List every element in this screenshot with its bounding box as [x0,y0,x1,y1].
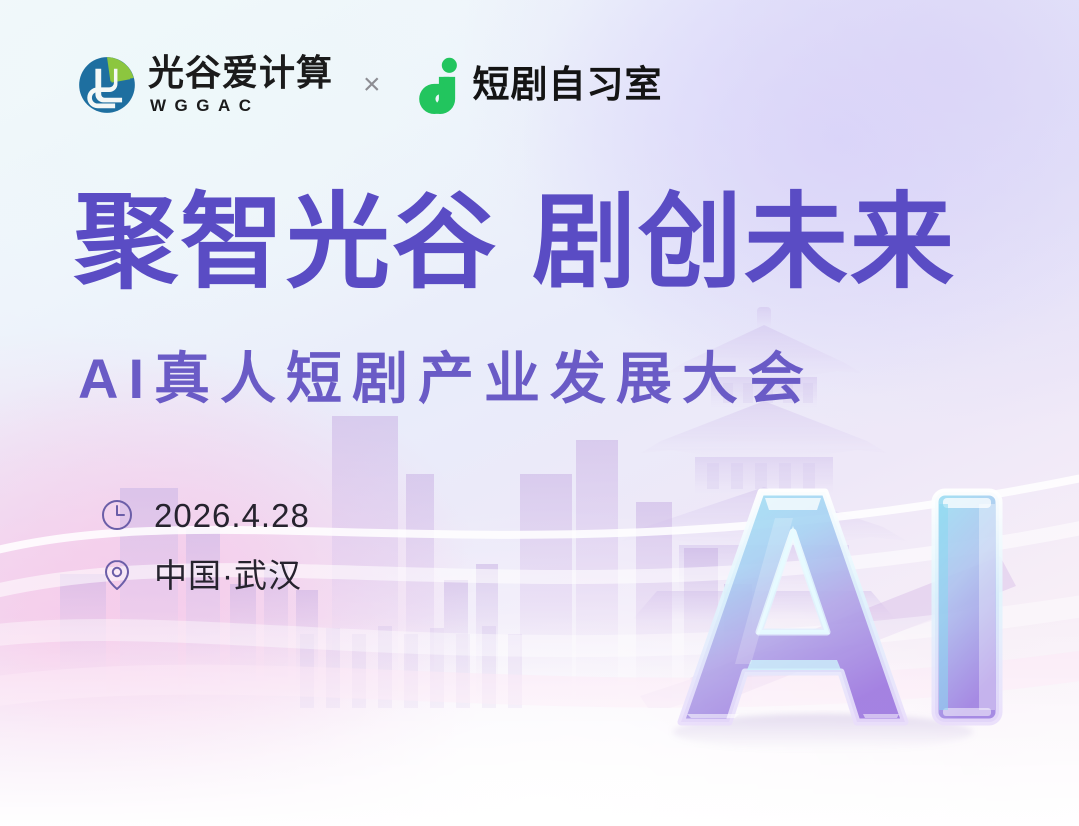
event-date-row: 2026.4.28 [100,498,310,532]
wggac-name-cn: 光谷爱计算 [148,55,333,91]
ai-3d-glass-graphic [643,464,1043,764]
event-location-row: 中国·武汉 [100,558,310,592]
wggac-name-en: WGGAC [148,97,333,114]
event-meta: 2026.4.28 中国·武汉 [100,498,310,592]
letter-a-glyph [681,492,905,722]
duanju-name-cn: 短剧自习室 [473,66,663,103]
wggac-aperture-logo-icon [78,56,136,114]
poster-subtitle: AI真人短剧产业发展大会 [78,348,814,410]
headline-part-1: 聚智光谷 [74,185,498,301]
event-poster: 光谷爱计算 WGGAC × 短剧自习室 聚智光谷剧创未来 AI真人短剧产业发展大… [0,0,1079,826]
event-date: 2026.4.28 [154,499,310,532]
location-pin-icon [100,558,134,592]
brand-wggac: 光谷爱计算 WGGAC [78,55,333,114]
letter-i-glyph [935,492,999,722]
brand-duanju: 短剧自习室 [411,56,663,114]
partner-logo-row: 光谷爱计算 WGGAC × 短剧自习室 [78,55,663,114]
event-location: 中国·武汉 [154,559,302,592]
headline-part-2: 剧创未来 [532,185,956,301]
clock-icon [100,498,134,532]
duanju-d-logo-icon [411,56,461,114]
partner-separator-x-icon: × [363,70,381,100]
wggac-wordmark: 光谷爱计算 WGGAC [148,55,333,114]
poster-headline: 聚智光谷剧创未来 [74,188,956,298]
